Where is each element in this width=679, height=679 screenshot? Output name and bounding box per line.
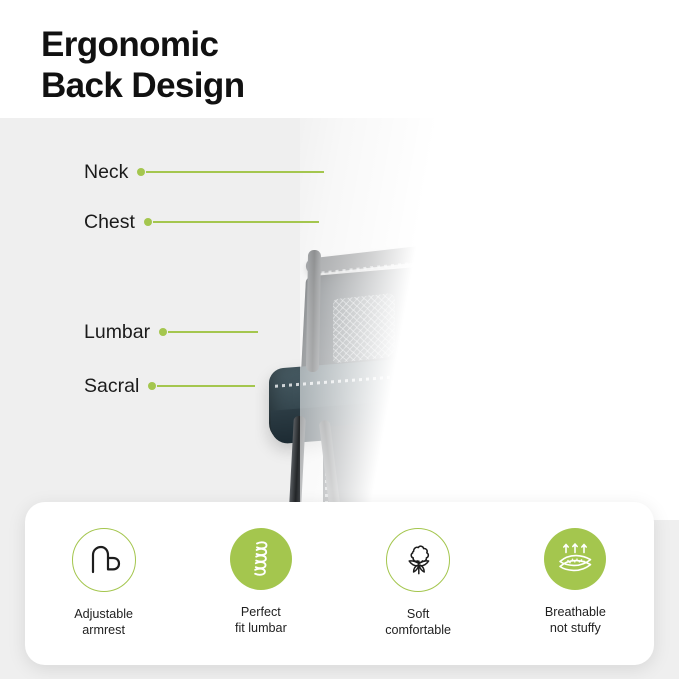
spine-icon (248, 539, 274, 579)
feature-label-line1: Breathable (545, 605, 606, 619)
feature-label: Adjustablearmrest (74, 606, 133, 638)
callout-lumbar: Lumbar (84, 319, 258, 345)
feature-icon-circle (230, 528, 292, 590)
feature-item-adjustable-armrest: Adjustablearmrest (25, 502, 182, 638)
callout-chest: Chest (84, 209, 319, 235)
callout-leader-line (153, 221, 319, 223)
armrest-icon (87, 544, 121, 576)
feature-label-line1: Perfect (241, 605, 281, 619)
callout-label: Sacral (84, 375, 139, 398)
feature-label: Softcomfortable (385, 606, 451, 638)
callout-label: Neck (84, 161, 128, 184)
callout-dot-icon (137, 168, 145, 176)
callout-leader-line (157, 385, 255, 387)
callout-dot-icon (144, 218, 152, 226)
feature-icon-circle (544, 528, 606, 590)
feature-label-line2: fit lumbar (235, 621, 287, 635)
feature-icon-circle (386, 528, 450, 592)
callout-leader-line (168, 331, 258, 333)
page-title: Ergonomic Back Design (41, 24, 441, 106)
title-line-2: Back Design (41, 65, 441, 106)
callout-neck: Neck (84, 159, 324, 185)
feature-label-line2: not stuffy (550, 621, 601, 635)
feature-label-line2: armrest (82, 623, 125, 637)
feature-label: Perfectfit lumbar (235, 604, 287, 636)
feature-label-line2: comfortable (385, 623, 451, 637)
callout-dot-icon (148, 382, 156, 390)
callout-label: Chest (84, 211, 135, 234)
callout-sacral: Sacral (84, 373, 255, 399)
feature-icon-circle (72, 528, 136, 592)
feature-item-breathable-not-stuffy: Breathablenot stuffy (497, 502, 654, 636)
feature-card: Adjustablearmrest Perfectfit lumbar (25, 502, 654, 665)
feature-label-line1: Adjustable (74, 607, 133, 621)
feature-label-line1: Soft (407, 607, 429, 621)
cotton-boll-icon (400, 542, 436, 578)
callout-label: Lumbar (84, 321, 150, 344)
feature-item-perfect-fit-lumbar: Perfectfit lumbar (182, 502, 339, 636)
callout-leader-line (146, 171, 324, 173)
breathable-fabric-icon (555, 541, 595, 577)
feature-item-soft-comfortable: Softcomfortable (340, 502, 497, 638)
feature-label: Breathablenot stuffy (545, 604, 606, 636)
infographic-page: Ergonomic Back Design Neck Chest Lumbar … (0, 0, 679, 679)
callout-dot-icon (159, 328, 167, 336)
title-line-1: Ergonomic (41, 25, 218, 64)
